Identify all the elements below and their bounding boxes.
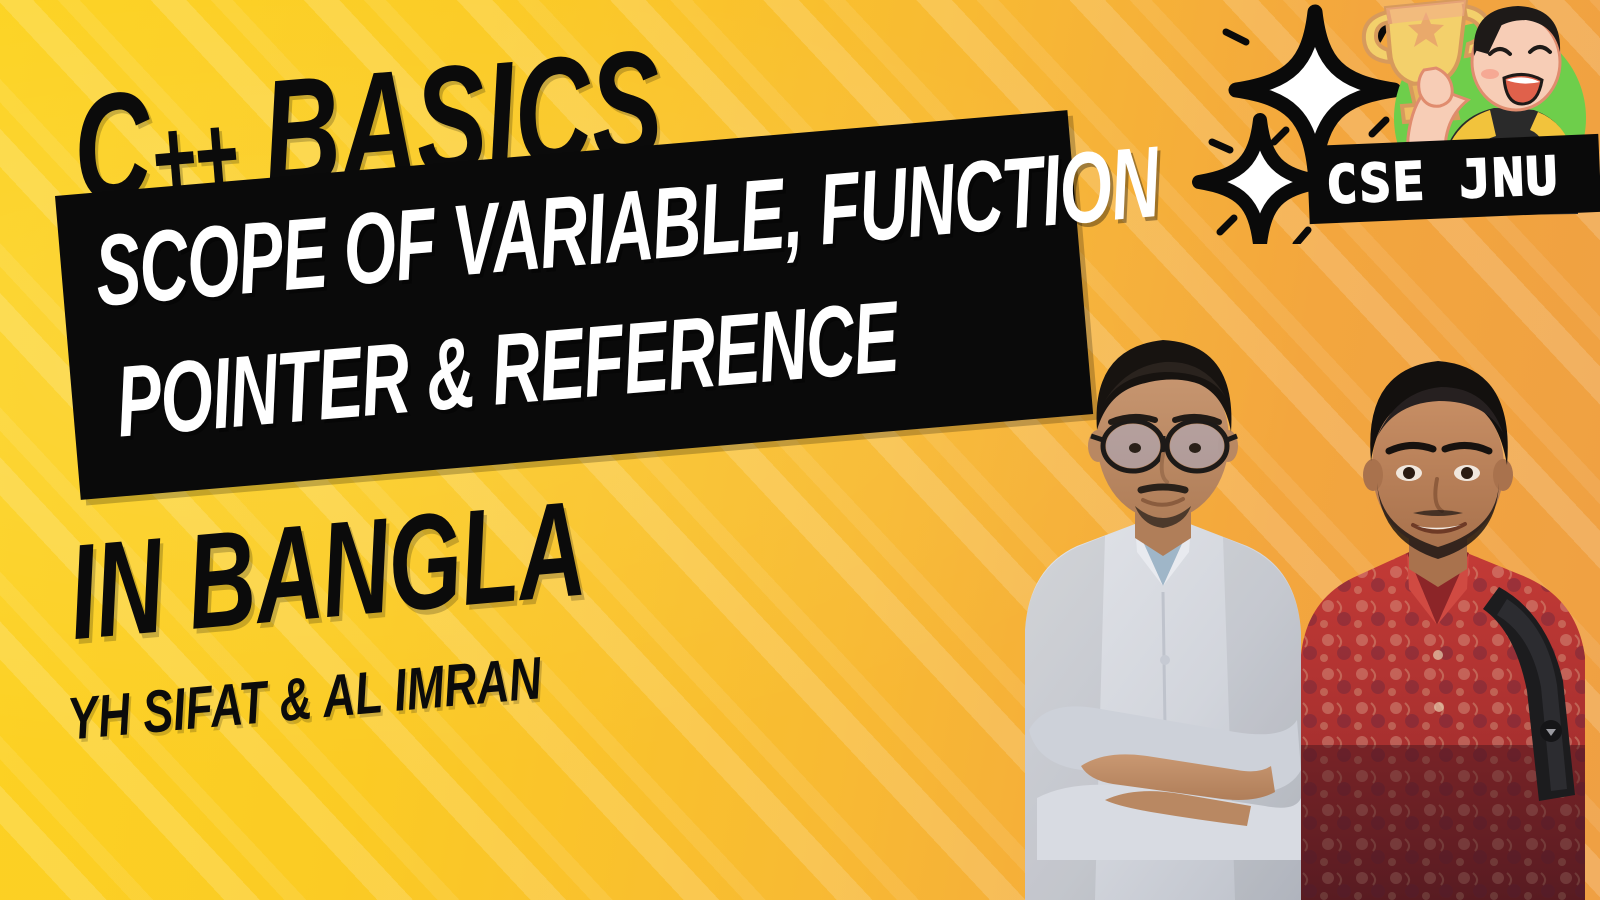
presenter-photos bbox=[985, 300, 1600, 900]
language-label: IN BANGLA bbox=[63, 472, 590, 671]
logo-banner-label: CSE JNU bbox=[1325, 144, 1600, 216]
youtube-thumbnail: C++ BASICS SCOPE OF VARIABLE, FUNCTION P… bbox=[0, 0, 1600, 900]
person-right-photo bbox=[1285, 325, 1600, 900]
channel-logo[interactable]: CSE JNU bbox=[1190, 0, 1600, 264]
